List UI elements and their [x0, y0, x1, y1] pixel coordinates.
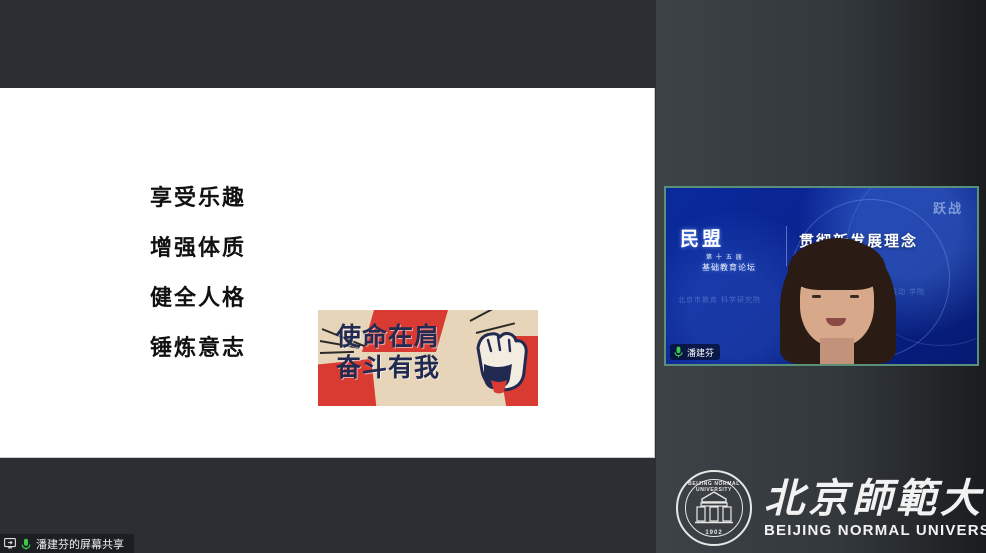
university-name-cn: 北京師範大學	[764, 478, 986, 520]
screen-share-status-text: 潘建芬的屏幕共享	[36, 536, 124, 552]
slide-text-line: 健全人格	[150, 288, 246, 310]
slide-text-line: 享受乐趣	[150, 188, 246, 210]
seal-gate-icon	[695, 491, 733, 525]
participant-video-tile[interactable]: 民盟 第 十 五 届 基础教育论坛 贯彻新发展理念 育评价改革 00-12:00…	[664, 186, 979, 366]
figure-eye	[812, 295, 821, 298]
slide-banner-image: 使命在肩 奋斗有我	[318, 310, 538, 406]
organizer-logo-sub1: 第 十 五 届	[706, 252, 756, 261]
microphone-icon	[674, 346, 683, 358]
slide-text-line: 锤炼意志	[150, 338, 246, 360]
participant-name: 潘建芬	[687, 346, 714, 359]
microphone-icon[interactable]	[21, 538, 31, 550]
event-organizer-logo: 民盟 第 十 五 届 基础教育论坛	[680, 230, 756, 273]
meeting-screen-share-view: 享受乐趣 增强体质 健全人格 锤炼意志 使命在肩 奋斗有我	[0, 0, 986, 553]
seal-year: 1902	[678, 530, 750, 536]
university-name-en: BEIJING NORMAL UNIVERSITY	[764, 522, 986, 539]
shared-screen-region: 享受乐趣 增强体质 健全人格 锤炼意志 使命在肩 奋斗有我	[0, 0, 656, 553]
participant-name-badge: 潘建芬	[670, 344, 720, 360]
figure-bangs	[788, 240, 886, 290]
banner-line-1: 使命在肩	[336, 324, 440, 349]
slide-text-list: 享受乐趣 增强体质 健全人格 锤炼意志	[150, 188, 246, 360]
figure-neck	[820, 338, 854, 364]
presentation-slide[interactable]: 享受乐趣 增强体质 健全人格 锤炼意志 使命在肩 奋斗有我	[0, 88, 655, 458]
backdrop-left-mark: 北京市教育 科学研究院	[678, 296, 761, 307]
banner-line-2: 奋斗有我	[336, 355, 440, 380]
bnu-seal-icon: BEIJING NORMAL UNIVERSITY 1902	[676, 470, 752, 546]
university-name-group: 北京師範大學 BEIJING NORMAL UNIVERSITY	[764, 478, 986, 539]
university-logo: BEIJING NORMAL UNIVERSITY 1902 北京師範大學 BE…	[676, 470, 986, 546]
slide-text-line: 增强体质	[150, 238, 246, 260]
screen-share-icon	[4, 538, 16, 549]
screen-share-status-bar[interactable]: 潘建芬的屏幕共享	[0, 534, 134, 553]
participant-video-figure	[762, 238, 912, 364]
backdrop-corner-mark: 跃战	[933, 198, 963, 217]
organizer-logo-sub2: 基础教育论坛	[702, 262, 756, 273]
figure-eye	[850, 295, 859, 298]
organizer-logo-main: 民盟	[680, 230, 756, 249]
banner-text-group: 使命在肩 奋斗有我	[336, 324, 440, 380]
raised-fist-icon	[464, 318, 530, 402]
